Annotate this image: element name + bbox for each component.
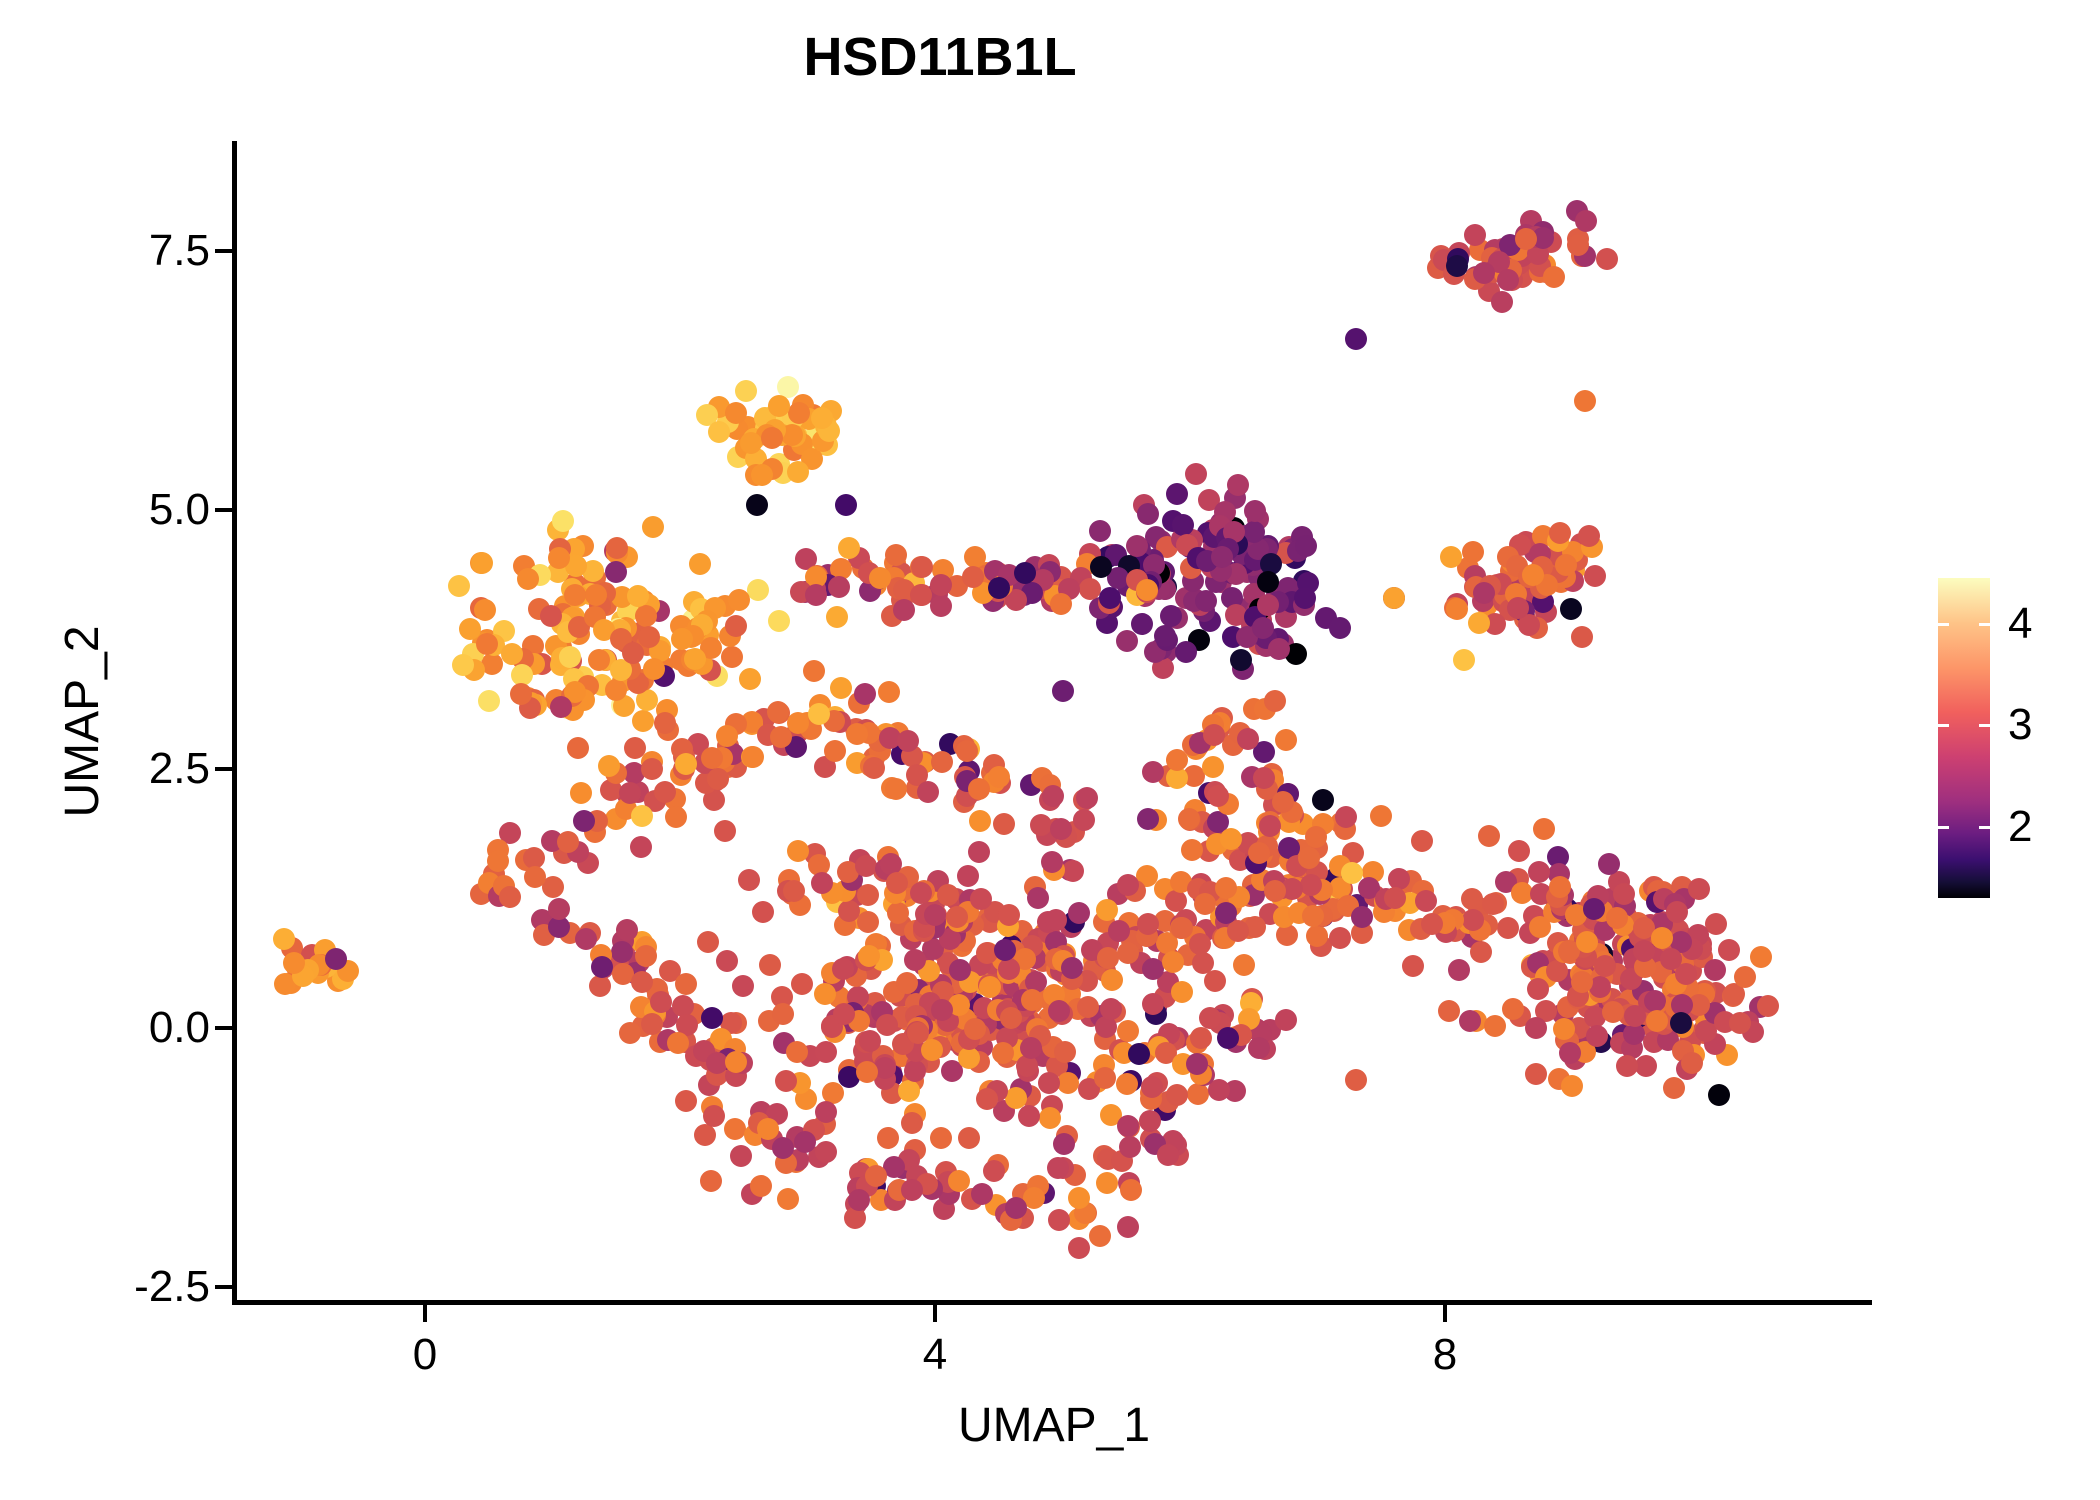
scatter-point xyxy=(803,660,825,682)
scatter-point xyxy=(924,904,946,926)
scatter-point xyxy=(1045,909,1067,931)
scatter-point xyxy=(697,931,719,953)
y-tick-mark xyxy=(215,249,232,253)
scatter-point xyxy=(1131,613,1153,635)
scatter-point xyxy=(1160,605,1182,627)
scatter-point xyxy=(721,646,743,668)
y-tick-label: 2.5 xyxy=(149,744,210,794)
scatter-point xyxy=(783,880,805,902)
scatter-point xyxy=(1128,1043,1150,1065)
scatter-point xyxy=(931,999,953,1021)
scatter-point xyxy=(1181,839,1203,861)
scatter-point xyxy=(642,516,664,538)
scatter-point xyxy=(1117,874,1139,896)
scatter-point xyxy=(887,902,909,924)
scatter-point xyxy=(1038,1072,1060,1094)
scatter-point xyxy=(1021,989,1043,1011)
scatter-point xyxy=(1117,1216,1139,1238)
scatter-point xyxy=(788,402,810,424)
scatter-point xyxy=(1502,998,1524,1020)
scatter-point xyxy=(910,882,932,904)
scatter-point xyxy=(1440,546,1462,568)
scatter-point xyxy=(550,696,572,718)
scatter-point xyxy=(481,653,503,675)
scatter-point xyxy=(1543,266,1565,288)
scatter-point xyxy=(725,402,747,424)
scatter-point xyxy=(1252,617,1274,639)
scatter-point xyxy=(1157,1144,1179,1166)
scatter-point xyxy=(1473,582,1495,604)
scatter-point xyxy=(631,805,653,827)
scatter-point xyxy=(1527,978,1549,1000)
scatter-point xyxy=(828,576,850,598)
scatter-point xyxy=(548,898,570,920)
scatter-point xyxy=(1508,840,1530,862)
scatter-point xyxy=(746,494,768,516)
scatter-point xyxy=(611,941,633,963)
scatter-point xyxy=(1312,789,1334,811)
scatter-point xyxy=(1050,818,1072,840)
scatter-point xyxy=(575,928,597,950)
scatter-point xyxy=(1560,598,1582,620)
scatter-point xyxy=(1470,941,1492,963)
scatter-point xyxy=(1704,959,1726,981)
scatter-point xyxy=(632,710,654,732)
scatter-point xyxy=(1244,500,1266,522)
scatter-point xyxy=(1248,842,1270,864)
scatter-point xyxy=(958,1127,980,1149)
scatter-point xyxy=(619,782,641,804)
scatter-point xyxy=(767,701,789,723)
scatter-point xyxy=(1559,1042,1581,1064)
scatter-point xyxy=(1606,907,1628,929)
scatter-point xyxy=(1076,787,1098,809)
scatter-point xyxy=(1126,535,1148,557)
y-tick-mark xyxy=(215,1026,232,1030)
scatter-point xyxy=(1681,1052,1703,1074)
scatter-point xyxy=(1574,390,1596,412)
scatter-point xyxy=(1233,954,1255,976)
scatter-point xyxy=(730,1145,752,1167)
scatter-point xyxy=(1453,649,1475,671)
colorbar-tick-mark xyxy=(1979,724,1990,727)
scatter-point xyxy=(1345,328,1367,350)
scatter-point xyxy=(619,1022,641,1044)
scatter-point xyxy=(1329,927,1351,949)
scatter-point xyxy=(1528,861,1550,883)
scatter-point xyxy=(1305,826,1327,848)
scatter-point xyxy=(1491,291,1513,313)
scatter-point xyxy=(1203,724,1225,746)
scatter-point xyxy=(1575,210,1597,232)
scatter-point xyxy=(585,584,607,606)
scatter-point xyxy=(814,983,836,1005)
scatter-point xyxy=(1651,927,1673,949)
scatter-point xyxy=(499,886,521,908)
scatter-point xyxy=(761,427,783,449)
scatter-point xyxy=(1185,463,1207,485)
scatter-point xyxy=(570,782,592,804)
page-title: HSD11B1L xyxy=(0,26,1880,88)
scatter-point xyxy=(1473,262,1495,284)
scatter-point xyxy=(517,568,539,590)
scatter-point xyxy=(794,1131,816,1153)
scatter-point xyxy=(564,584,586,606)
scatter-point xyxy=(1549,876,1571,898)
scatter-point xyxy=(838,900,860,922)
scatter-point xyxy=(1594,955,1616,977)
scatter-point xyxy=(811,407,833,429)
scatter-point xyxy=(1275,1009,1297,1031)
scatter-point xyxy=(548,547,570,569)
scatter-point xyxy=(1484,1015,1506,1037)
scatter-point xyxy=(1136,579,1158,601)
scatter-point xyxy=(622,642,644,664)
scatter-point xyxy=(1300,874,1322,896)
scatter-point xyxy=(1100,998,1122,1020)
scatter-point xyxy=(897,730,919,752)
scatter-point xyxy=(1041,851,1063,873)
scatter-point xyxy=(1567,234,1589,256)
scatter-point xyxy=(1370,805,1392,827)
scatter-point xyxy=(808,703,830,725)
scatter-point xyxy=(1073,809,1095,831)
x-tick-mark xyxy=(1443,1305,1447,1322)
x-tick-mark xyxy=(933,1305,937,1322)
scatter-point xyxy=(1018,1105,1040,1127)
scatter-point xyxy=(948,1170,970,1192)
scatter-point xyxy=(641,758,663,780)
scatter-point xyxy=(605,561,627,583)
scatter-point xyxy=(759,954,781,976)
scatter-point xyxy=(1068,902,1090,924)
scatter-point xyxy=(1142,761,1164,783)
scatter-point xyxy=(957,865,979,887)
scatter-point xyxy=(635,945,657,967)
scatter-point xyxy=(1162,951,1184,973)
scatter-point xyxy=(1137,913,1159,935)
scatter-point xyxy=(641,1013,663,1035)
scatter-point xyxy=(832,958,854,980)
scatter-point xyxy=(1446,598,1468,620)
scatter-point xyxy=(979,976,1001,998)
scatter-point xyxy=(1199,1007,1221,1029)
scatter-point xyxy=(1220,828,1242,850)
scatter-points-layer xyxy=(236,141,1872,1302)
scatter-point xyxy=(689,553,711,575)
scatter-point xyxy=(983,1160,1005,1182)
scatter-point xyxy=(988,577,1010,599)
scatter-point xyxy=(1154,625,1176,647)
colorbar-legend: 432 xyxy=(1938,578,2098,908)
plot-panel xyxy=(236,141,1872,1302)
scatter-point xyxy=(605,679,627,701)
y-tick-label: 5.0 xyxy=(149,485,210,535)
scatter-point xyxy=(1068,1237,1090,1259)
y-tick-mark xyxy=(215,508,232,512)
scatter-point xyxy=(848,1189,870,1211)
scatter-point xyxy=(725,1051,747,1073)
scatter-point xyxy=(846,723,868,745)
scatter-point xyxy=(901,1112,923,1134)
scatter-point xyxy=(921,1039,943,1061)
scatter-point xyxy=(325,948,347,970)
scatter-point xyxy=(863,757,885,779)
scatter-point xyxy=(1117,1115,1139,1137)
scatter-point xyxy=(857,911,879,933)
scatter-point xyxy=(1561,1075,1583,1097)
scatter-point xyxy=(835,494,857,516)
scatter-point xyxy=(958,1047,980,1069)
scatter-point xyxy=(1616,1055,1638,1077)
scatter-point xyxy=(993,813,1015,835)
scatter-point xyxy=(1272,791,1294,813)
scatter-point xyxy=(1583,898,1605,920)
scatter-point xyxy=(1448,959,1470,981)
scatter-point xyxy=(1119,1136,1141,1158)
scatter-point xyxy=(1101,969,1123,991)
scatter-point xyxy=(1718,939,1740,961)
scatter-point xyxy=(1171,917,1193,939)
scatter-point xyxy=(998,904,1020,926)
scatter-point xyxy=(1187,1083,1209,1105)
scatter-point xyxy=(854,683,876,705)
scatter-point xyxy=(1257,594,1279,616)
scatter-point xyxy=(635,605,657,627)
scatter-point xyxy=(1438,1000,1460,1022)
scatter-point xyxy=(1257,571,1279,593)
y-tick-label: 0.0 xyxy=(149,1003,210,1053)
scatter-point xyxy=(826,606,848,628)
scatter-point xyxy=(1351,906,1373,928)
scatter-point xyxy=(1053,1133,1075,1155)
scatter-point xyxy=(917,781,939,803)
x-axis-line xyxy=(232,1300,1872,1305)
scatter-point xyxy=(1141,1076,1163,1098)
scatter-point xyxy=(805,584,827,606)
scatter-point xyxy=(1207,785,1229,807)
scatter-point xyxy=(1295,535,1317,557)
scatter-point xyxy=(1039,1107,1061,1129)
colorbar-tick-label: 4 xyxy=(2008,599,2032,649)
scatter-point xyxy=(1576,931,1598,953)
scatter-point xyxy=(1027,887,1049,909)
scatter-point xyxy=(478,690,500,712)
scatter-point xyxy=(1000,1007,1022,1029)
scatter-point xyxy=(811,872,833,894)
scatter-point xyxy=(1602,1001,1624,1023)
scatter-point xyxy=(910,584,932,606)
scatter-point xyxy=(970,888,992,910)
x-tick-label: 4 xyxy=(923,1330,947,1380)
scatter-point xyxy=(459,618,481,640)
scatter-point xyxy=(1061,957,1083,979)
scatter-point xyxy=(1596,248,1618,270)
scatter-point xyxy=(949,959,971,981)
scatter-point xyxy=(283,952,305,974)
scatter-point xyxy=(1345,1069,1367,1091)
scatter-point xyxy=(540,605,562,627)
scatter-point xyxy=(1275,729,1297,751)
scatter-point xyxy=(1077,996,1099,1018)
scatter-point xyxy=(452,654,474,676)
scatter-point xyxy=(838,537,860,559)
scatter-point xyxy=(1211,546,1233,568)
scatter-point xyxy=(1584,565,1606,587)
scatter-point xyxy=(1215,902,1237,924)
scatter-point xyxy=(1068,1187,1090,1209)
scatter-point xyxy=(876,1014,898,1036)
scatter-point xyxy=(742,746,764,768)
scatter-point xyxy=(1023,1187,1045,1209)
scatter-point xyxy=(907,1022,929,1044)
scatter-point xyxy=(772,1003,794,1025)
colorbar-tick-label: 3 xyxy=(2008,700,2032,750)
scatter-point xyxy=(1094,1067,1116,1089)
scatter-point xyxy=(1533,818,1555,840)
scatter-point xyxy=(1497,917,1519,939)
scatter-point xyxy=(1468,612,1490,634)
scatter-point xyxy=(728,589,750,611)
scatter-point xyxy=(724,1118,746,1140)
scatter-point xyxy=(1204,970,1226,992)
y-tick-label: -2.5 xyxy=(134,1262,210,1312)
scatter-point xyxy=(956,740,978,762)
scatter-point xyxy=(552,510,574,532)
colorbar-tick-mark xyxy=(1979,826,1990,829)
scatter-point xyxy=(815,1041,837,1063)
scatter-point xyxy=(1099,587,1121,609)
scatter-point xyxy=(1670,1012,1692,1034)
scatter-point xyxy=(1624,1005,1646,1027)
scatter-point xyxy=(1384,887,1406,909)
scatter-point xyxy=(524,866,546,888)
colorbar-tick-label: 2 xyxy=(2008,802,2032,852)
scatter-point xyxy=(1014,562,1036,584)
x-tick-label: 0 xyxy=(413,1330,437,1380)
scatter-point xyxy=(751,464,773,486)
scatter-point xyxy=(787,712,809,734)
scatter-point xyxy=(971,1183,993,1205)
scatter-point xyxy=(559,646,581,668)
scatter-point xyxy=(703,1105,725,1127)
scatter-point xyxy=(1515,228,1537,250)
scatter-point xyxy=(1227,920,1249,942)
scatter-point xyxy=(1190,1027,1212,1049)
scatter-point xyxy=(1117,1020,1139,1042)
scatter-point xyxy=(714,820,736,842)
scatter-point xyxy=(738,869,760,891)
colorbar-tick-mark xyxy=(1938,826,1949,829)
scatter-point xyxy=(1446,255,1468,277)
scatter-point xyxy=(1253,767,1275,789)
scatter-point xyxy=(1089,520,1111,542)
scatter-point xyxy=(930,595,952,617)
scatter-point xyxy=(1116,1073,1138,1095)
scatter-point xyxy=(1635,1055,1657,1077)
scatter-point xyxy=(716,950,738,972)
scatter-point xyxy=(969,810,991,832)
scatter-point xyxy=(1047,1157,1069,1179)
scatter-point xyxy=(992,1042,1014,1064)
scatter-point xyxy=(1529,916,1551,938)
scatter-point xyxy=(1227,474,1249,496)
scatter-point xyxy=(1525,1063,1547,1085)
scatter-point xyxy=(1688,878,1710,900)
y-axis-title: UMAP_2 xyxy=(55,141,110,1302)
scatter-point xyxy=(448,575,470,597)
scatter-point xyxy=(1137,503,1159,525)
scatter-point xyxy=(1708,1084,1730,1106)
y-axis-line xyxy=(232,141,237,1305)
scatter-point xyxy=(700,1170,722,1192)
scatter-point xyxy=(750,1175,772,1197)
scatter-point xyxy=(1248,1037,1270,1059)
scatter-point xyxy=(833,1003,855,1025)
scatter-point xyxy=(1757,995,1779,1017)
scatter-point xyxy=(1613,883,1635,905)
x-tick-label: 8 xyxy=(1433,1330,1457,1380)
scatter-point xyxy=(1194,893,1216,915)
scatter-point xyxy=(878,681,900,703)
scatter-point xyxy=(573,810,595,832)
scatter-point xyxy=(1096,1172,1118,1194)
scatter-point xyxy=(1462,909,1484,931)
scatter-point xyxy=(1464,224,1486,246)
scatter-point xyxy=(898,1080,920,1102)
scatter-point xyxy=(901,1179,923,1201)
scatter-point xyxy=(735,380,757,402)
scatter-point xyxy=(1383,587,1405,609)
scatter-point xyxy=(856,1061,878,1083)
scatter-point xyxy=(694,1124,716,1146)
scatter-point xyxy=(1462,541,1484,563)
scatter-point xyxy=(1054,1041,1076,1063)
x-tick-mark xyxy=(423,1305,427,1322)
scatter-point xyxy=(1302,905,1324,927)
scatter-point xyxy=(739,668,761,690)
scatter-point xyxy=(1478,825,1500,847)
scatter-point xyxy=(824,740,846,762)
scatter-point xyxy=(598,755,620,777)
y-tick-label: 7.5 xyxy=(149,226,210,276)
scatter-point xyxy=(1120,1179,1142,1201)
scatter-point xyxy=(725,615,747,637)
scatter-point xyxy=(885,778,907,800)
scatter-point xyxy=(1052,680,1074,702)
scatter-point xyxy=(1507,597,1529,619)
scatter-point xyxy=(1497,269,1519,291)
scatter-point xyxy=(630,836,652,858)
scatter-point xyxy=(1298,847,1320,869)
y-tick-mark xyxy=(215,767,232,771)
scatter-point xyxy=(791,973,813,995)
scatter-point xyxy=(1294,587,1316,609)
scatter-point xyxy=(1461,888,1483,910)
scatter-point xyxy=(1525,1017,1547,1039)
colorbar-tick-mark xyxy=(1938,623,1949,626)
scatter-point xyxy=(1171,981,1193,1003)
scatter-point xyxy=(567,737,589,759)
scatter-point xyxy=(930,1127,952,1149)
scatter-point xyxy=(684,648,706,670)
scatter-point xyxy=(487,850,509,872)
scatter-point xyxy=(830,677,852,699)
scatter-point xyxy=(1666,901,1688,923)
scatter-point xyxy=(1660,948,1682,970)
scatter-point xyxy=(1555,554,1577,576)
scatter-point xyxy=(665,806,687,828)
